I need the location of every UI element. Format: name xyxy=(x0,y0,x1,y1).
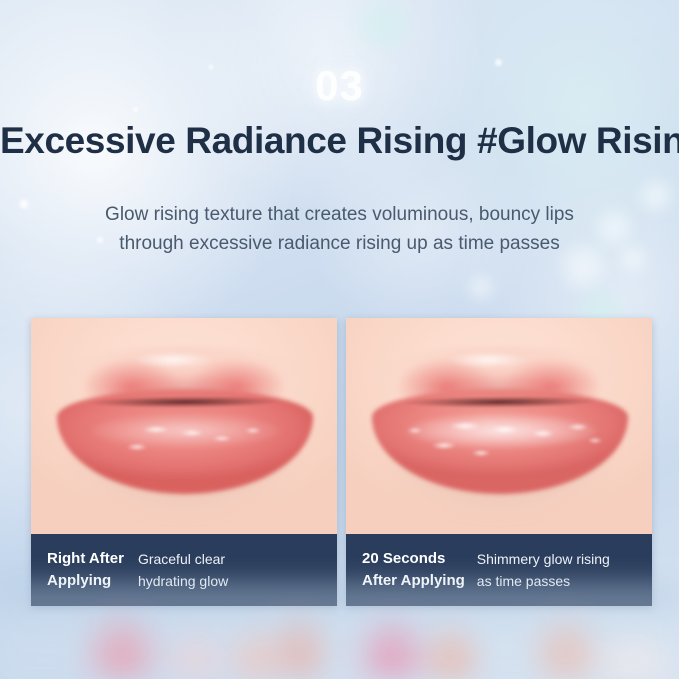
blurred-product-strip xyxy=(0,583,679,679)
step-number: 03 xyxy=(0,62,679,110)
lower-lip-gloss xyxy=(406,414,596,448)
caption-effect-line-1: Graceful clear xyxy=(138,548,228,570)
comparison-panel-after: 20 Seconds After Applying Shimmery glow … xyxy=(346,318,652,606)
lips-photo-right-after-applying xyxy=(31,318,337,534)
lower-lip-gloss xyxy=(91,414,281,448)
caption-timing-line-1: Right After xyxy=(47,548,124,570)
description-line-2: through excessive radiance rising up as … xyxy=(40,229,639,258)
comparison-panels: Right After Applying Graceful clear hydr… xyxy=(31,318,652,606)
cupids-bow-gloss xyxy=(450,352,528,368)
lips-photo-20-seconds-after-applying xyxy=(346,318,652,534)
caption-timing-line-1: 20 Seconds xyxy=(362,548,465,570)
description-line-1: Glow rising texture that creates volumin… xyxy=(40,200,639,229)
caption-effect-line-1: Shimmery glow rising xyxy=(477,548,610,570)
page-title: Excessive Radiance Rising #Glow Rising xyxy=(0,120,679,162)
comparison-panel-before: Right After Applying Graceful clear hydr… xyxy=(31,318,337,606)
promo-section: 03 Excessive Radiance Rising #Glow Risin… xyxy=(0,0,679,679)
bokeh-circle xyxy=(636,176,676,216)
section-description: Glow rising texture that creates volumin… xyxy=(40,200,639,258)
bokeh-circle xyxy=(466,272,496,302)
bokeh-dot xyxy=(18,198,30,210)
bokeh-circle-mint xyxy=(352,0,414,56)
cupids-bow-gloss xyxy=(135,352,213,368)
